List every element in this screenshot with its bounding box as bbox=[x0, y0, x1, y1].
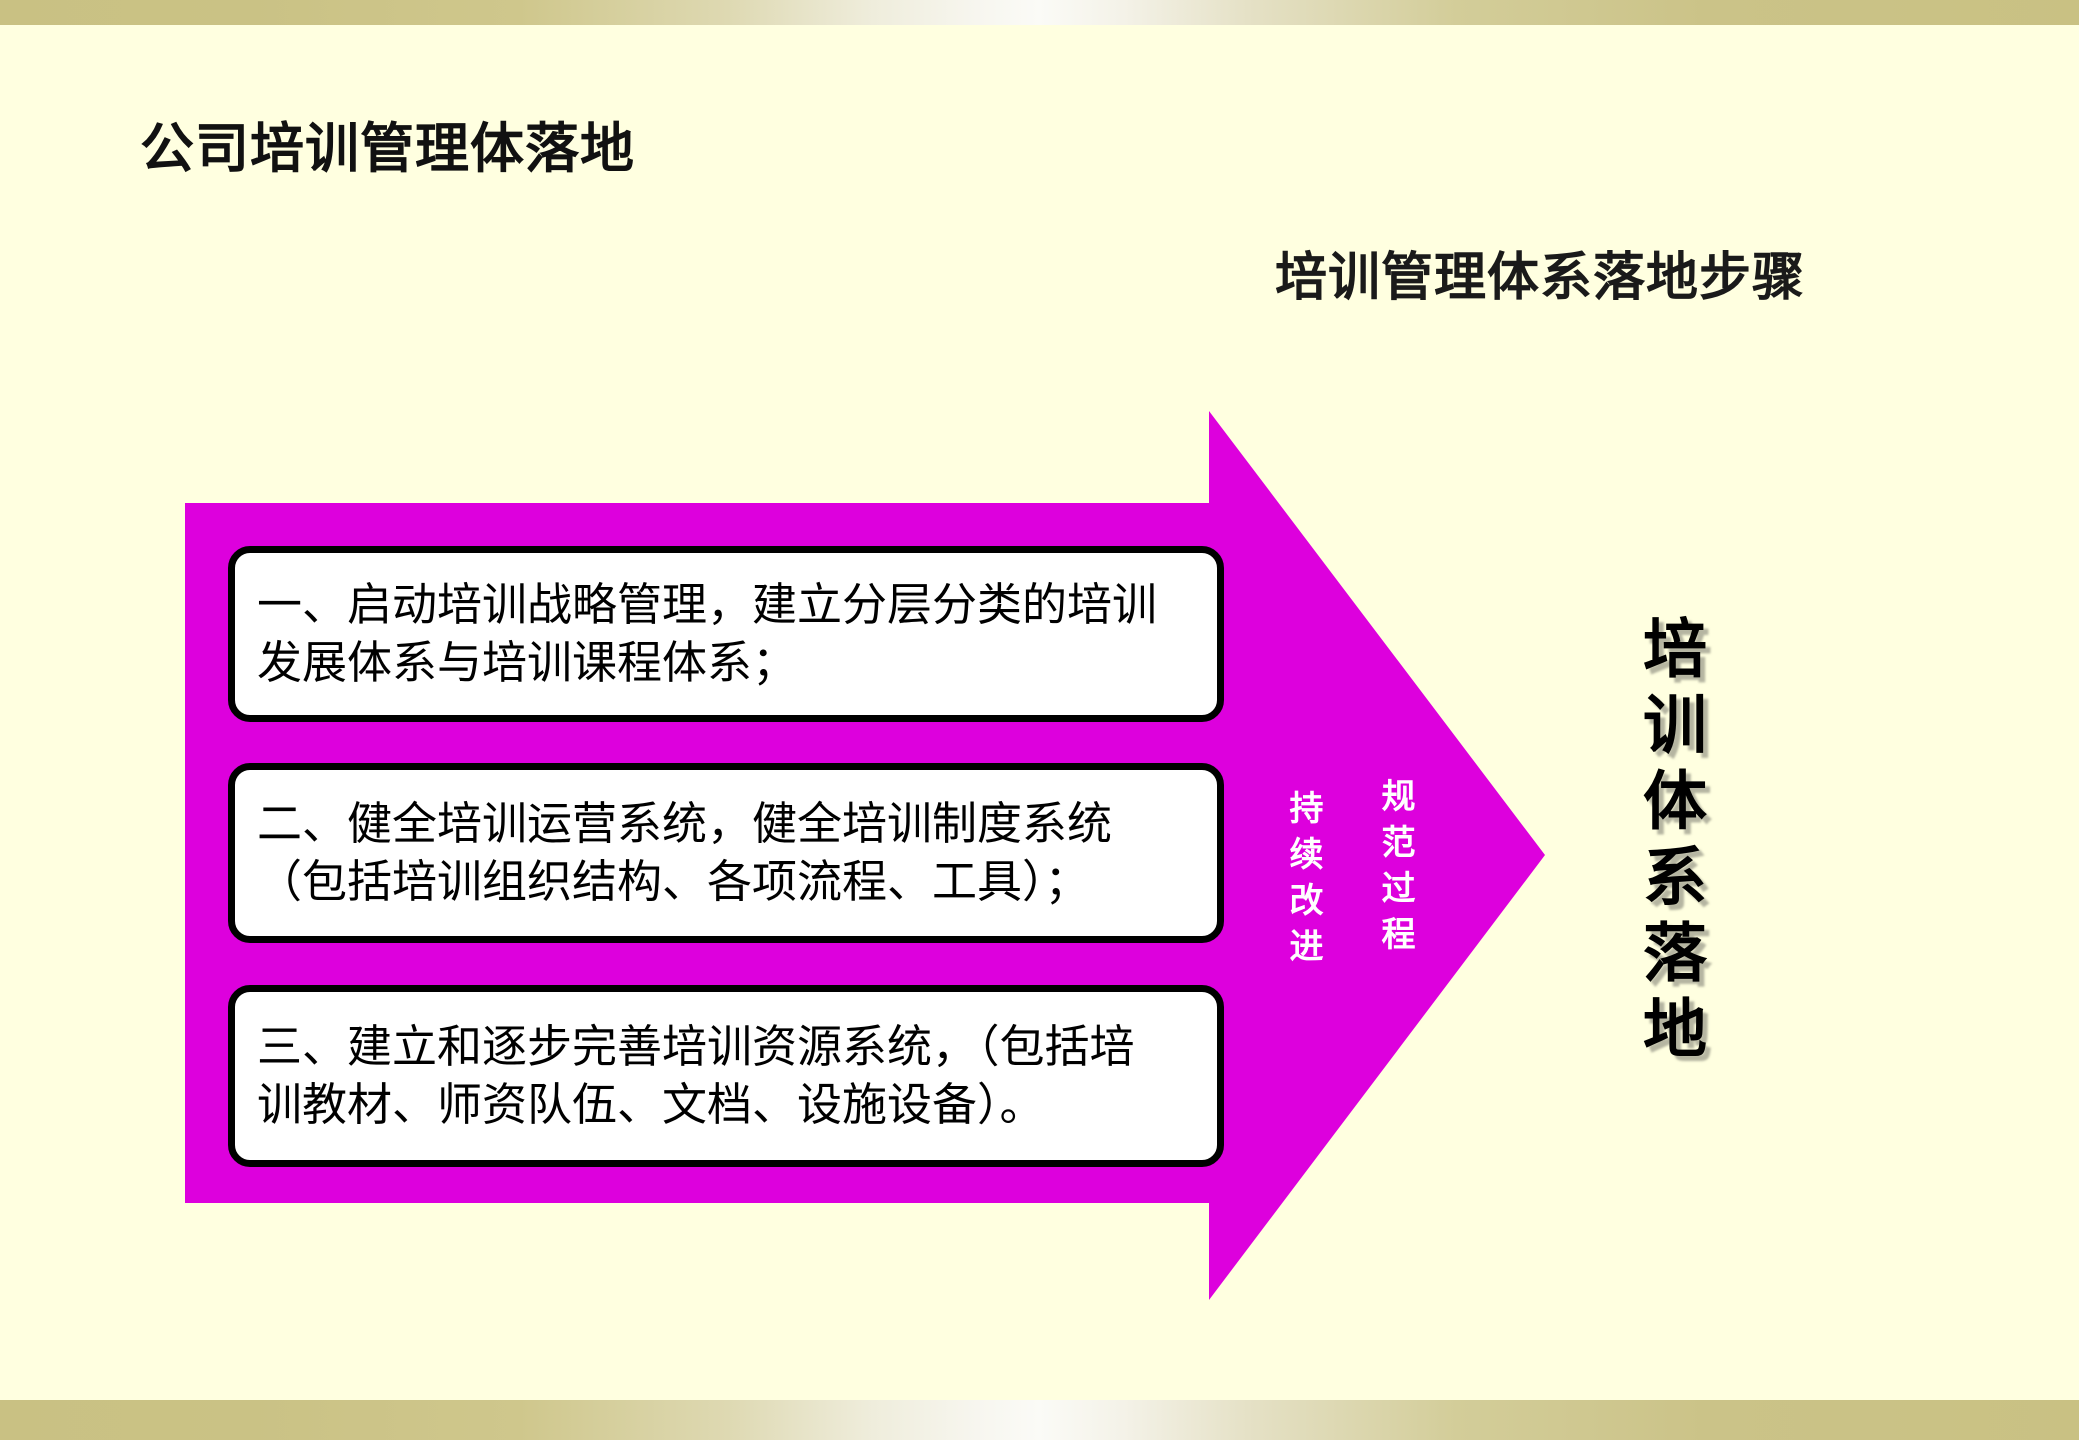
top-decorative-band bbox=[0, 0, 2079, 25]
step-box-1[interactable]: 一、启动培训战略管理，建立分层分类的培训 发展体系与培训课程体系； bbox=[228, 546, 1224, 722]
bottom-decorative-band bbox=[0, 1400, 2079, 1440]
step-3-text: 三、建立和逐步完善培训资源系统，（包括培 训教材、师资队伍、文档、设施设备）。 bbox=[235, 1018, 1217, 1135]
slide-subtitle: 培训管理体系落地步骤 bbox=[1275, 235, 1805, 310]
arrow-label-continuous-improvement: 持续改进 bbox=[1286, 790, 1320, 974]
step-1-text: 一、启动培训战略管理，建立分层分类的培训 发展体系与培训课程体系； bbox=[235, 576, 1217, 693]
step-2-text: 二、健全培训运营系统，健全培训制度系统 （包括培训组织结构、各项流程、工具）； bbox=[235, 795, 1217, 912]
arrow-label-standardize-process: 规范过程 bbox=[1378, 778, 1412, 962]
page-title: 公司培训管理体落地 bbox=[140, 104, 635, 183]
slide-canvas: 公司培训管理体落地 培训管理体系落地步骤 一、启动培训战略管理，建立分层分类的培… bbox=[0, 0, 2079, 1440]
step-box-2[interactable]: 二、健全培训运营系统，健全培训制度系统 （包括培训组织结构、各项流程、工具）； bbox=[228, 763, 1224, 943]
step-box-3[interactable]: 三、建立和逐步完善培训资源系统，（包括培 训教材、师资队伍、文档、设施设备）。 bbox=[228, 985, 1224, 1167]
outcome-vertical-label: 培训体系落地 bbox=[1638, 615, 1702, 1071]
